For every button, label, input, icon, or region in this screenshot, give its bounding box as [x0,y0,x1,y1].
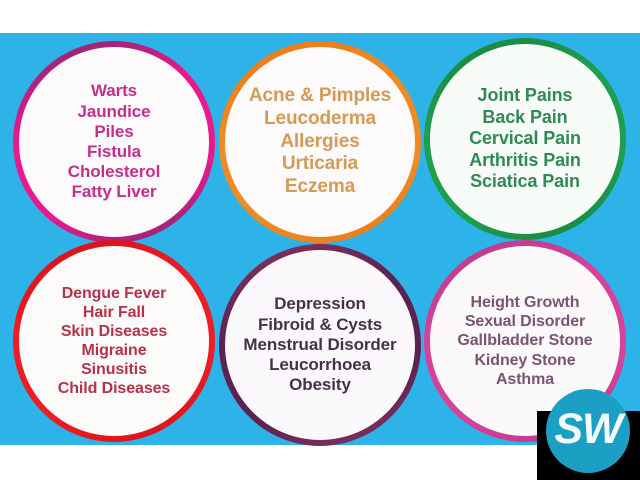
disease-item: Obesity [289,375,351,395]
disease-circle-pain: Joint PainsBack PainCervical PainArthrit… [424,38,626,240]
disease-circle-general-content: Dengue FeverHair FallSkin DiseasesMigrai… [19,246,209,436]
disease-circle-warts: WartsJaundicePilesFistulaCholesterolFatt… [13,41,215,243]
disease-item: Sinusitis [81,360,147,379]
disease-item: Skin Diseases [61,322,167,341]
disease-item: Arthritis Pain [469,150,581,171]
disease-circle-skin: Acne & PimplesLeucodermaAllergiesUrticar… [219,41,421,243]
disease-item: Piles [94,122,133,142]
disease-item: Sciatica Pain [470,171,580,192]
disease-item: Sexual Disorder [465,312,585,331]
disease-item: Cervical Pain [469,128,581,149]
disease-item: Gallbladder Stone [457,331,592,350]
disease-circle-grid: WartsJaundicePilesFistulaCholesterolFatt… [0,33,640,445]
disease-item: Fibroid & Cysts [258,315,382,335]
disease-item: Asthma [496,370,554,389]
disease-item: Jaundice [78,102,151,122]
disease-circle-warts-content: WartsJaundicePilesFistulaCholesterolFatt… [19,47,209,237]
disease-item: Cholesterol [68,162,160,182]
disease-item: Kidney Stone [474,351,575,370]
disease-item: Allergies [280,131,359,154]
disease-item: Menstrual Disorder [243,335,396,355]
disease-circle-pain-content: Joint PainsBack PainCervical PainArthrit… [430,44,620,234]
disease-item: Leucorrhoea [269,355,371,375]
disease-item: Joint Pains [478,85,573,106]
disease-item: Depression [274,294,366,314]
disease-circle-women: DepressionFibroid & CystsMenstrual Disor… [219,244,421,446]
disease-item: Acne & Pimples [249,85,391,108]
disease-item: Fatty Liver [72,182,157,202]
disease-item: Warts [91,81,137,101]
disease-item: Fistula [87,142,141,162]
disease-item: Migraine [82,341,147,360]
watermark-logo-label: SW [554,408,621,451]
disease-item: Back Pain [482,107,567,128]
disease-item: Leucoderma [264,108,376,131]
disease-item: Height Growth [471,293,580,312]
disease-item: Dengue Fever [62,284,167,303]
disease-item: Child Diseases [58,379,170,398]
poster-canvas: WartsJaundicePilesFistulaCholesterolFatt… [0,0,640,480]
disease-item: Urticaria [282,153,358,176]
disease-circle-women-content: DepressionFibroid & CystsMenstrual Disor… [225,250,415,440]
disease-circle-skin-content: Acne & PimplesLeucodermaAllergiesUrticar… [225,47,415,237]
disease-item: Eczema [285,176,355,199]
disease-circle-general: Dengue FeverHair FallSkin DiseasesMigrai… [13,240,215,442]
watermark-logo-badge: SW [546,389,630,473]
disease-item: Hair Fall [83,303,145,322]
